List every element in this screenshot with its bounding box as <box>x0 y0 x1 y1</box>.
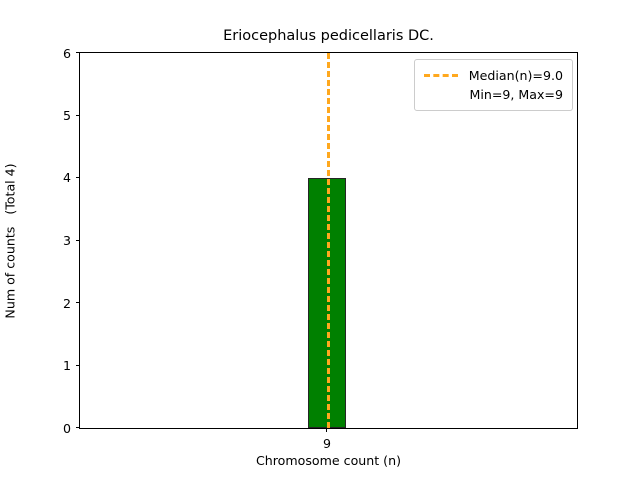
y-tick-label: 6 <box>63 45 71 62</box>
legend-entry-median: Median(n)=9.0 <box>424 66 563 85</box>
y-tick-mark <box>76 52 80 53</box>
y-tick-mark <box>76 115 80 116</box>
y-tick-mark <box>76 302 80 303</box>
y-tick-label: 4 <box>63 169 71 186</box>
y-tick-mark <box>76 365 80 366</box>
y-axis-label-container: Num of counts (Total 4) <box>0 52 20 429</box>
y-tick-label: 3 <box>63 232 71 249</box>
y-axis-label: Num of counts (Total 4) <box>2 163 19 318</box>
y-tick-label: 5 <box>63 107 71 124</box>
legend-label: Median(n)=9.0 <box>469 67 563 84</box>
y-tick-mark <box>76 240 80 241</box>
y-tick-label: 1 <box>63 357 71 374</box>
chart-title: Eriocephalus pedicellaris DC. <box>79 28 578 45</box>
legend-entry-minmax: Min=9, Max=9 <box>424 85 563 104</box>
x-tick-mark <box>326 428 327 432</box>
legend: Median(n)=9.0 Min=9, Max=9 <box>414 59 573 111</box>
x-tick-label: 9 <box>287 435 367 452</box>
y-tick-mark <box>76 427 80 428</box>
dashed-line-icon <box>424 74 458 77</box>
x-axis-label: Chromosome count (n) <box>79 452 578 469</box>
plot-area: 0 1 2 3 4 5 6 9 <box>79 52 578 429</box>
y-tick-label: 0 <box>63 420 71 437</box>
legend-label: Min=9, Max=9 <box>469 86 563 103</box>
y-tick-label: 2 <box>63 295 71 312</box>
y-tick-mark <box>76 177 80 178</box>
chart-figure: Eriocephalus pedicellaris DC. Num of cou… <box>0 0 640 480</box>
median-line <box>327 53 330 428</box>
